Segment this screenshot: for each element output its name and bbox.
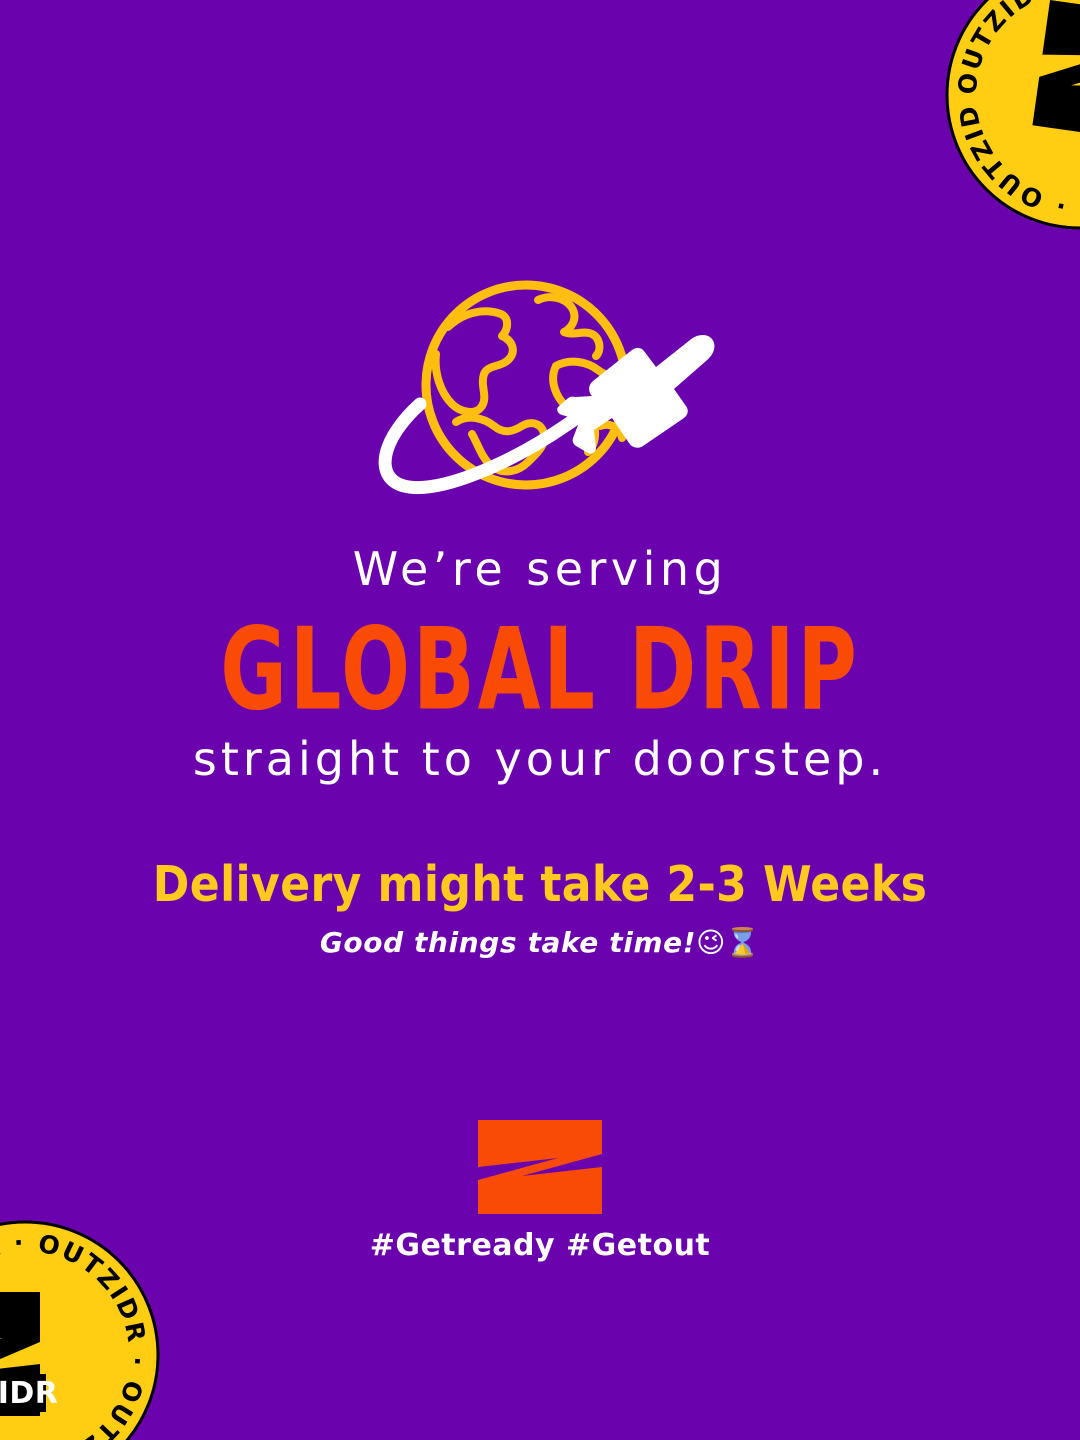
headline-text: GLOBAL DRIP bbox=[32, 613, 1047, 726]
footer-block: #Getready #Getout bbox=[0, 1120, 1080, 1263]
badge-z-mark bbox=[0, 1292, 40, 1416]
poster-canvas: OUTZIDR · OUTZIDR · OUTZIDR · OUTZIDR · … bbox=[0, 0, 1080, 1440]
airplane-icon bbox=[557, 335, 714, 454]
badge-wordmark-bar bbox=[0, 1374, 46, 1412]
copy-block: We’re serving GLOBAL DRIP straight to yo… bbox=[0, 545, 1080, 959]
subnote-emoji: 😉⌛ bbox=[696, 926, 760, 959]
badge-z-mark bbox=[1032, 0, 1080, 139]
badge-ring-text: OUTZIDR · OUTZIDR · OUTZIDR · OUTZIDR · bbox=[945, 0, 1080, 222]
eyebrow-text: We’re serving bbox=[0, 545, 1080, 595]
globe-airplane-icon bbox=[360, 272, 720, 507]
hashtags-text: #Getready #Getout bbox=[0, 1228, 1080, 1263]
badge-circle bbox=[947, 0, 1080, 228]
subnote-line: Good things take time!😉⌛ bbox=[0, 928, 1080, 959]
subhead-text: straight to your doorstep. bbox=[0, 735, 1080, 785]
badge-wordmark-text: OUTZIDR bbox=[0, 1376, 58, 1411]
brand-z-logo bbox=[478, 1120, 602, 1214]
badge-top-right: OUTZIDR · OUTZIDR · OUTZIDR · OUTZIDR · bbox=[945, 0, 1080, 230]
delivery-note-text: Delivery might take 2-3 Weeks bbox=[0, 858, 1080, 912]
subnote-text: Good things take time! bbox=[320, 926, 696, 959]
